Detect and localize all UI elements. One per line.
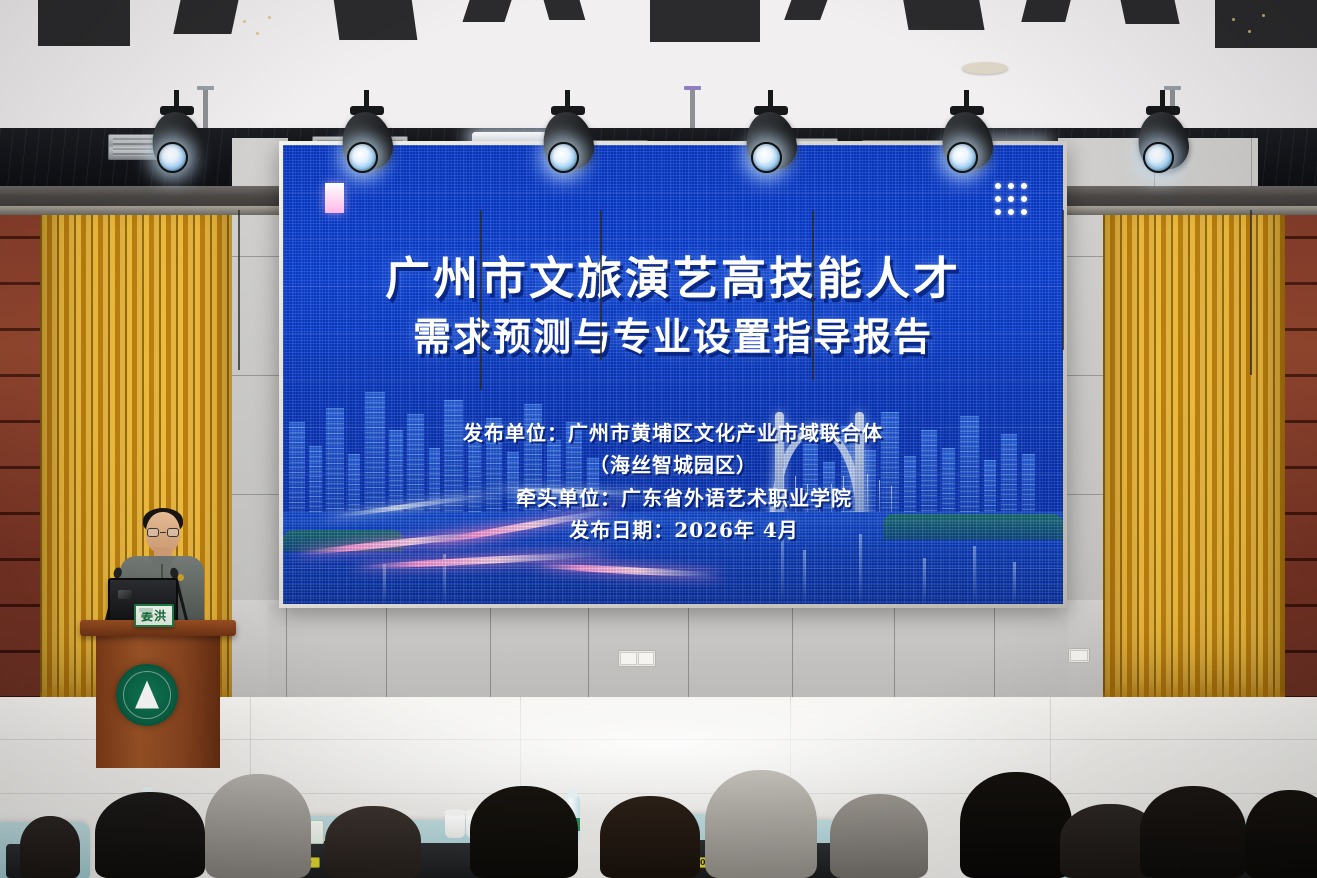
audience-head xyxy=(830,794,928,878)
ceiling-acoustic-panel xyxy=(901,0,984,30)
audience-row: 9 10 16 立 xyxy=(0,760,1317,878)
slide-content: 广州市文旅演艺高技能人才 需求预测与专业设置指导报告 发布单位：广州市黄埔区文化… xyxy=(283,145,1063,604)
ceiling xyxy=(0,0,1317,128)
led-display-screen: 广州市文旅演艺高技能人才 需求预测与专业设置指导报告 发布单位：广州市黄埔区文化… xyxy=(279,141,1067,608)
eyeglasses-icon xyxy=(147,528,179,537)
speaker-nameplate: 姜洪 xyxy=(134,604,174,627)
slide-surface: 广州市文旅演艺高技能人才 需求预测与专业设置指导报告 发布单位：广州市黄埔区文化… xyxy=(283,145,1063,604)
audience-head xyxy=(1140,786,1246,878)
slide-subtitle-line-3: 发布日期：2026年 4月 xyxy=(283,514,1063,546)
tea-cup xyxy=(445,814,465,838)
ceiling-acoustic-panel xyxy=(173,0,240,34)
ceiling-hanger-rod xyxy=(690,90,695,128)
audience-head xyxy=(600,796,700,878)
slide-title-line2: 需求预测与专业设置指导报告 xyxy=(283,315,1063,359)
power-outlet[interactable] xyxy=(1068,648,1090,663)
ceiling-acoustic-panel xyxy=(1118,0,1179,24)
ceiling-acoustic-panel xyxy=(462,0,515,22)
slide-subtitle: 发布单位：广州市黄埔区文化产业市域联合体 （海丝智城园区） 牵头单位：广东省外语… xyxy=(283,417,1063,547)
audience-head xyxy=(95,792,205,878)
slide-subtitle-line-0: 发布单位：广州市黄埔区文化产业市域联合体 xyxy=(283,417,1063,449)
corner-accent-icon xyxy=(325,183,344,213)
ceiling-acoustic-panel xyxy=(333,0,418,40)
ceiling-acoustic-panel xyxy=(1021,0,1072,22)
audience-head xyxy=(205,774,311,878)
ceiling-acoustic-panel xyxy=(784,0,832,20)
audience-head xyxy=(20,816,80,878)
audience-head xyxy=(325,806,421,878)
ceiling-acoustic-panel xyxy=(1215,0,1317,48)
ceiling-acoustic-panel xyxy=(650,0,760,42)
slide-subtitle-line-2: 牵头单位：广东省外语艺术职业学院 xyxy=(283,482,1063,514)
screen-lower-wall xyxy=(268,604,1068,697)
school-emblem-icon xyxy=(116,664,178,726)
audience-head xyxy=(470,786,578,878)
slide-title: 广州市文旅演艺高技能人才 需求预测与专业设置指导报告 xyxy=(283,253,1063,359)
audience-head xyxy=(960,772,1072,878)
dot-grid-icon xyxy=(995,183,1027,215)
power-outlet[interactable] xyxy=(618,650,656,667)
audience-head xyxy=(705,770,817,878)
ceiling-acoustic-panel xyxy=(38,0,130,46)
conference-hall-scene: 广州市文旅演艺高技能人才 需求预测与专业设置指导报告 发布单位：广州市黄埔区文化… xyxy=(0,0,1317,878)
ceiling-speaker xyxy=(962,62,1008,74)
ceiling-acoustic-panel xyxy=(541,0,586,20)
slide-subtitle-line-1: （海丝智城园区） xyxy=(283,449,1063,481)
audience-head xyxy=(1245,790,1317,878)
slide-title-line1: 广州市文旅演艺高技能人才 xyxy=(385,252,961,305)
stage-curtain-right xyxy=(1103,190,1285,712)
podium: 姜洪 xyxy=(88,620,228,768)
ceiling-hanger-rod xyxy=(203,90,208,128)
